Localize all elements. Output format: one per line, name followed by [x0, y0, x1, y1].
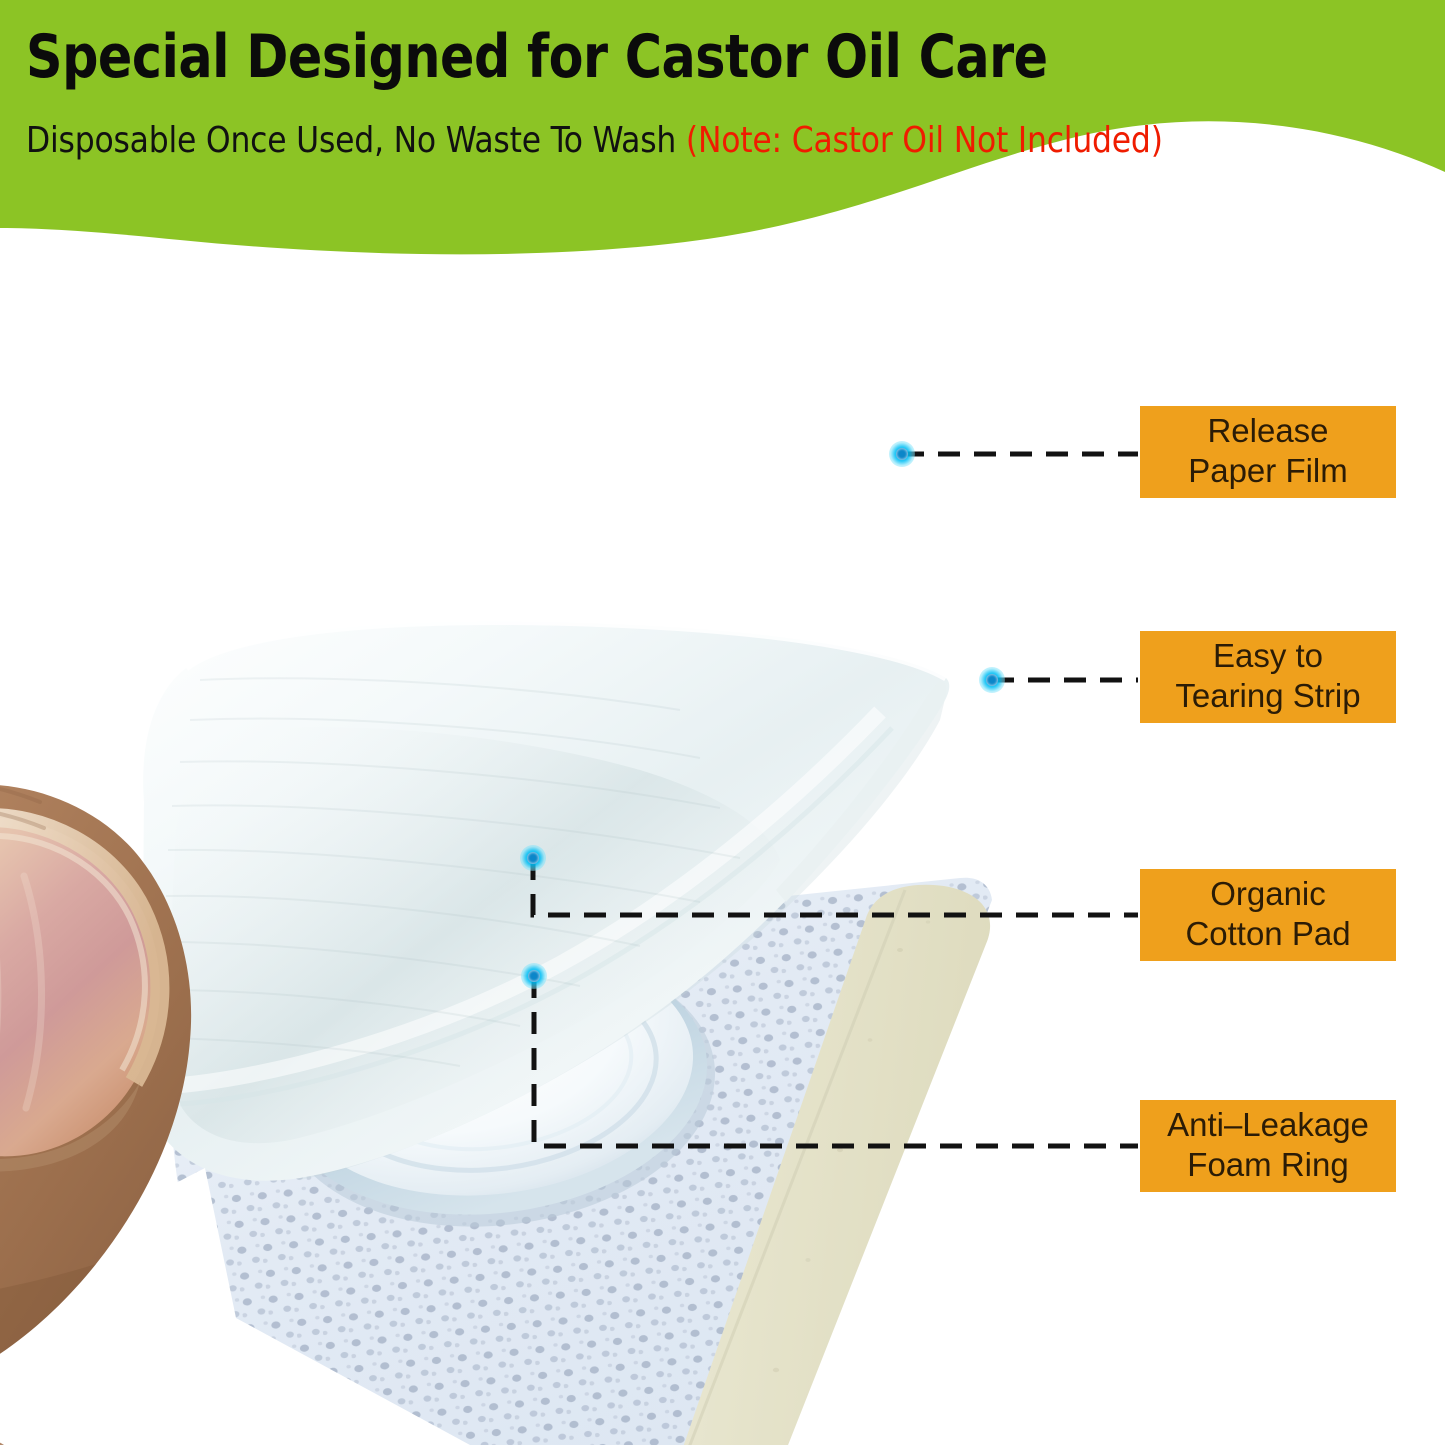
callout-label-line1: Easy to [1213, 636, 1323, 676]
callout-label-anti-leakage-foam-ring[interactable]: Anti–Leakage Foam Ring [1140, 1100, 1396, 1192]
callout-label-line1: Anti–Leakage [1167, 1105, 1369, 1145]
callout-label-organic-cotton-pad[interactable]: Organic Cotton Pad [1140, 869, 1396, 961]
banner-subtitle-main: Disposable Once Used, No Waste To Wash [26, 120, 686, 161]
infographic-canvas: Release Paper Film Easy to Tearing Strip… [0, 0, 1445, 1445]
callout-label-line1: Release [1207, 411, 1328, 451]
product-photo [0, 250, 1110, 1445]
header-banner: Special Designed for Castor Oil Care Dis… [0, 0, 1445, 262]
callout-label-line2: Tearing Strip [1175, 676, 1360, 716]
callout-label-release-paper-film[interactable]: Release Paper Film [1140, 406, 1396, 498]
callout-label-line2: Cotton Pad [1185, 914, 1350, 954]
banner-subtitle-note: (Note: Castor Oil Not Included) [686, 120, 1163, 161]
callout-label-line2: Foam Ring [1187, 1145, 1348, 1185]
callout-label-line2: Paper Film [1188, 451, 1348, 491]
banner-subtitle: Disposable Once Used, No Waste To Wash (… [26, 120, 1394, 161]
banner-title: Special Designed for Castor Oil Care [26, 26, 1342, 89]
product-photo-illustration [0, 250, 1110, 1445]
callout-label-line1: Organic [1210, 874, 1326, 914]
callout-label-easy-to-tearing-strip[interactable]: Easy to Tearing Strip [1140, 631, 1396, 723]
